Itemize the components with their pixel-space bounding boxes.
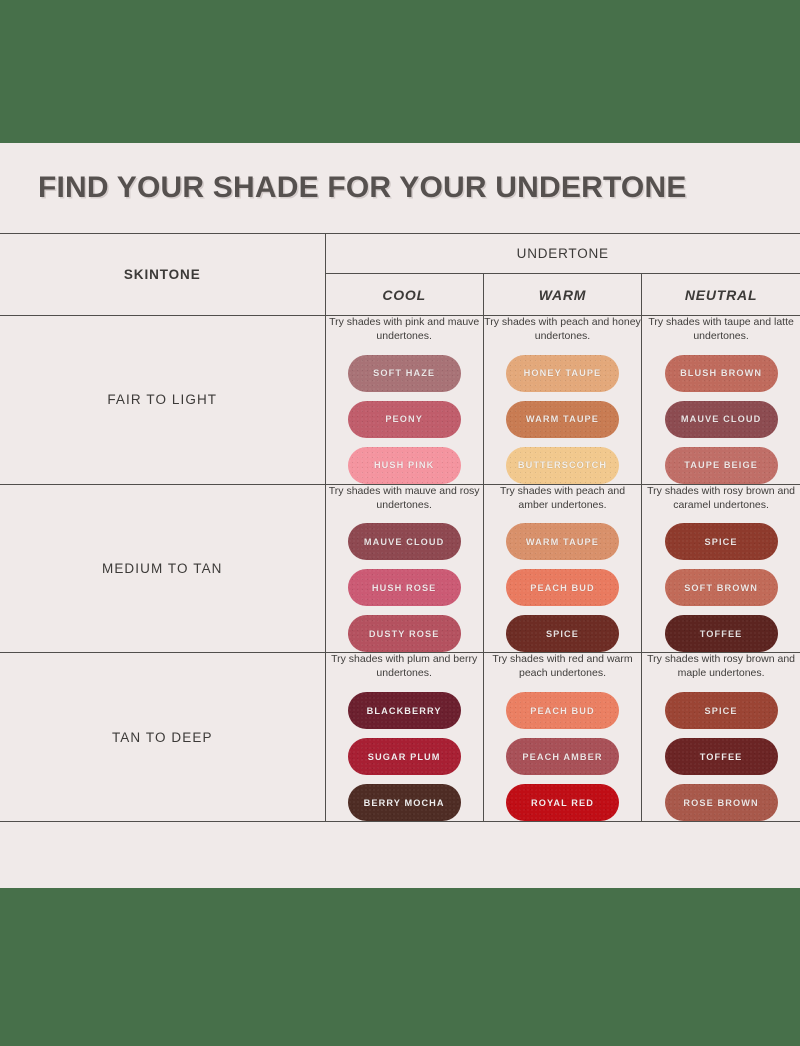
shade-swatch[interactable]: SOFT BROWN — [665, 569, 778, 606]
shade-cell-neutral: Try shades with rosy brown and maple und… — [642, 653, 800, 822]
shade-swatch[interactable]: ROYAL RED — [506, 784, 619, 821]
shade-swatch-list: MAUVE CLOUD HUSH ROSE DUSTY ROSE — [326, 523, 483, 652]
shade-swatch[interactable]: TOFFEE — [665, 738, 778, 775]
skintone-label: MEDIUM TO TAN — [0, 484, 325, 653]
page-title: FIND YOUR SHADE FOR YOUR UNDERTONE — [38, 171, 687, 205]
shade-swatch-list: SOFT HAZE PEONY HUSH PINK — [326, 355, 483, 484]
shade-cell-warm: Try shades with peach and honey underton… — [483, 316, 641, 485]
shade-matrix-table: SKINTONE UNDERTONE COOL WARM NEUTRAL FAI… — [0, 233, 800, 822]
shade-swatch-list: HONEY TAUPE WARM TAUPE BUTTERSCOTCH — [484, 355, 641, 484]
shade-finder-card: FIND YOUR SHADE FOR YOUR UNDERTONE SKINT… — [0, 143, 800, 888]
page-root: FIND YOUR SHADE FOR YOUR UNDERTONE SKINT… — [0, 0, 800, 1046]
shade-name: SOFT BROWN — [684, 583, 758, 593]
shade-name: HUSH PINK — [374, 460, 434, 470]
shade-name: SOFT HAZE — [373, 368, 435, 378]
shade-swatch[interactable]: SOFT HAZE — [348, 355, 461, 392]
header-row-top: SKINTONE UNDERTONE — [0, 234, 800, 274]
shade-name: DUSTY ROSE — [369, 629, 440, 639]
undertone-hint: Try shades with plum and berry undertone… — [326, 653, 483, 681]
page-title-bar: FIND YOUR SHADE FOR YOUR UNDERTONE — [0, 143, 800, 233]
column-header-skintone: SKINTONE — [0, 234, 325, 316]
shade-swatch[interactable]: PEACH BUD — [506, 569, 619, 606]
shade-swatch[interactable]: PEACH BUD — [506, 692, 619, 729]
shade-cell-warm: Try shades with red and warm peach under… — [483, 653, 641, 822]
shade-swatch-list: BLACKBERRY SUGAR PLUM BERRY MOCHA — [326, 692, 483, 821]
shade-name: SPICE — [705, 537, 738, 547]
shade-swatch-list: PEACH BUD PEACH AMBER ROYAL RED — [484, 692, 641, 821]
column-header-cool: COOL — [325, 274, 483, 316]
shade-name: ROYAL RED — [531, 798, 594, 808]
shade-swatch-list: SPICE SOFT BROWN TOFFEE — [642, 523, 800, 652]
shade-swatch[interactable]: HUSH ROSE — [348, 569, 461, 606]
table-header: SKINTONE UNDERTONE COOL WARM NEUTRAL — [0, 234, 800, 316]
shade-swatch[interactable]: SPICE — [506, 615, 619, 652]
shade-swatch[interactable]: PEONY — [348, 401, 461, 438]
shade-name: PEONY — [385, 414, 423, 424]
table-row: TAN TO DEEP Try shades with plum and ber… — [0, 653, 800, 822]
undertone-hint: Try shades with rosy brown and maple und… — [642, 653, 800, 681]
shade-name: SPICE — [705, 706, 738, 716]
shade-name: PEACH AMBER — [522, 752, 602, 762]
skintone-label: FAIR TO LIGHT — [0, 316, 325, 485]
shade-swatch[interactable]: TOFFEE — [665, 615, 778, 652]
shade-cell-neutral: Try shades with taupe and latte underton… — [642, 316, 800, 485]
shade-name: MAUVE CLOUD — [364, 537, 445, 547]
shade-swatch[interactable]: SPICE — [665, 692, 778, 729]
shade-name: SPICE — [546, 629, 579, 639]
shade-name: TOFFEE — [700, 629, 743, 639]
shade-swatch-list: WARM TAUPE PEACH BUD SPICE — [484, 523, 641, 652]
shade-name: PEACH BUD — [530, 706, 595, 716]
shade-name: TAUPE BEIGE — [684, 460, 758, 470]
shade-cell-warm: Try shades with peach and amber underton… — [483, 484, 641, 653]
shade-name: WARM TAUPE — [526, 414, 599, 424]
column-header-warm: WARM — [483, 274, 641, 316]
shade-swatch[interactable]: WARM TAUPE — [506, 523, 619, 560]
shade-swatch[interactable]: PEACH AMBER — [506, 738, 619, 775]
shade-name: TOFFEE — [700, 752, 743, 762]
undertone-hint: Try shades with taupe and latte underton… — [642, 316, 800, 344]
undertone-hint: Try shades with peach and honey underton… — [484, 316, 641, 344]
shade-swatch[interactable]: TAUPE BEIGE — [665, 447, 778, 484]
shade-cell-cool: Try shades with mauve and rosy undertone… — [325, 484, 483, 653]
shade-name: HONEY TAUPE — [524, 368, 602, 378]
undertone-hint: Try shades with peach and amber underton… — [484, 485, 641, 513]
shade-name: HUSH ROSE — [372, 583, 437, 593]
shade-name: MAUVE CLOUD — [681, 414, 762, 424]
shade-cell-cool: Try shades with plum and berry undertone… — [325, 653, 483, 822]
shade-swatch[interactable]: WARM TAUPE — [506, 401, 619, 438]
table-body: FAIR TO LIGHT Try shades with pink and m… — [0, 316, 800, 822]
shade-swatch[interactable]: HUSH PINK — [348, 447, 461, 484]
shade-name: WARM TAUPE — [526, 537, 599, 547]
table-row: MEDIUM TO TAN Try shades with mauve and … — [0, 484, 800, 653]
shade-swatch[interactable]: ROSE BROWN — [665, 784, 778, 821]
column-header-undertone: UNDERTONE — [325, 234, 800, 274]
shade-name: BLACKBERRY — [367, 706, 442, 716]
shade-swatch[interactable]: SUGAR PLUM — [348, 738, 461, 775]
column-header-neutral: NEUTRAL — [642, 274, 800, 316]
shade-name: BLUSH BROWN — [680, 368, 762, 378]
shade-swatch[interactable]: MAUVE CLOUD — [348, 523, 461, 560]
shade-swatch[interactable]: MAUVE CLOUD — [665, 401, 778, 438]
shade-swatch-list: SPICE TOFFEE ROSE BROWN — [642, 692, 800, 821]
shade-swatch-list: BLUSH BROWN MAUVE CLOUD TAUPE BEIGE — [642, 355, 800, 484]
shade-name: BERRY MOCHA — [364, 798, 445, 808]
undertone-hint: Try shades with red and warm peach under… — [484, 653, 641, 681]
skintone-label: TAN TO DEEP — [0, 653, 325, 822]
shade-name: ROSE BROWN — [683, 798, 758, 808]
shade-cell-cool: Try shades with pink and mauve undertone… — [325, 316, 483, 485]
shade-swatch[interactable]: BERRY MOCHA — [348, 784, 461, 821]
shade-swatch[interactable]: SPICE — [665, 523, 778, 560]
shade-name: BUTTERSCOTCH — [518, 460, 607, 470]
shade-swatch[interactable]: BUTTERSCOTCH — [506, 447, 619, 484]
shade-name: SUGAR PLUM — [368, 752, 441, 762]
undertone-hint: Try shades with pink and mauve undertone… — [326, 316, 483, 344]
shade-cell-neutral: Try shades with rosy brown and caramel u… — [642, 484, 800, 653]
table-row: FAIR TO LIGHT Try shades with pink and m… — [0, 316, 800, 485]
shade-swatch[interactable]: HONEY TAUPE — [506, 355, 619, 392]
undertone-hint: Try shades with rosy brown and caramel u… — [642, 485, 800, 513]
shade-swatch[interactable]: BLUSH BROWN — [665, 355, 778, 392]
shade-name: PEACH BUD — [530, 583, 595, 593]
undertone-hint: Try shades with mauve and rosy undertone… — [326, 485, 483, 513]
shade-swatch[interactable]: BLACKBERRY — [348, 692, 461, 729]
shade-swatch[interactable]: DUSTY ROSE — [348, 615, 461, 652]
